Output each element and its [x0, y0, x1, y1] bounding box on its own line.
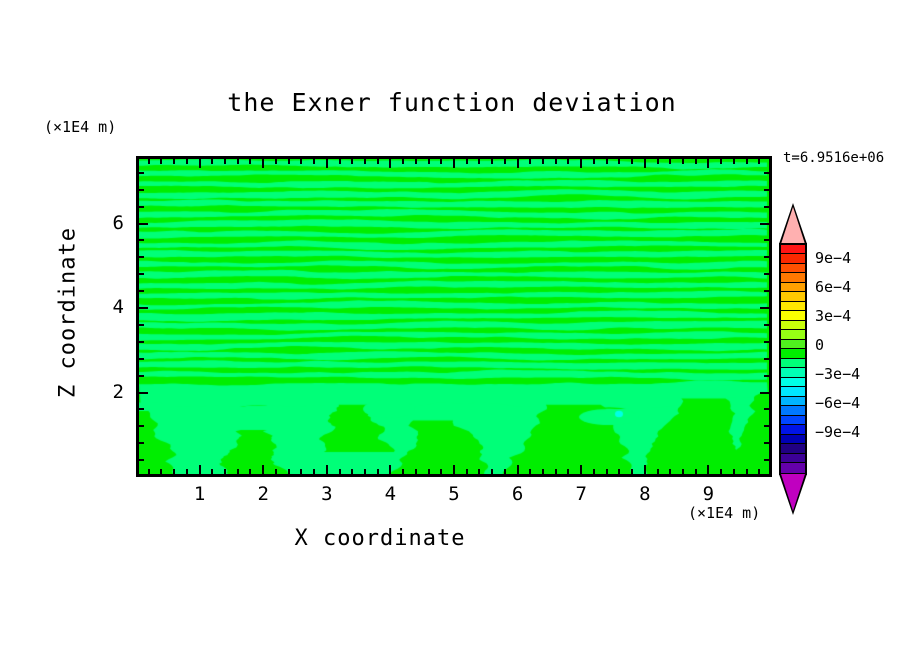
x-tick-minor: [275, 469, 277, 474]
colorbar-band: [781, 463, 805, 472]
y-tick-minor: [139, 341, 144, 343]
x-tick-minor: [440, 469, 442, 474]
y-axis-title: Z coordinate: [56, 203, 81, 423]
x-tick-major-top: [453, 159, 455, 168]
colorbar-band: [781, 406, 805, 415]
x-tick-major: [644, 465, 646, 474]
y-tick-minor: [139, 290, 144, 292]
y-tick-major: [139, 392, 148, 394]
x-tick-minor: [733, 469, 735, 474]
x-tick-major: [199, 465, 201, 474]
colorbar-band: [781, 302, 805, 311]
x-tick-label: 4: [370, 483, 410, 505]
colorbar-tick-label: 0: [815, 336, 824, 354]
x-tick-label: 1: [180, 483, 220, 505]
contour-plot-area: [136, 156, 772, 477]
y-tick-minor: [139, 189, 144, 191]
y-tick-minor-right: [764, 206, 769, 208]
x-tick-label: 3: [307, 483, 347, 505]
x-tick-minor-top: [491, 159, 493, 164]
y-tick-minor-right: [764, 256, 769, 258]
x-tick-minor-top: [415, 159, 417, 164]
colorbar-band: [781, 273, 805, 282]
x-tick-label: 8: [625, 483, 665, 505]
x-tick-major-top: [389, 159, 391, 168]
x-tick-minor: [618, 469, 620, 474]
y-tick-minor-right: [764, 341, 769, 343]
y-tick-major: [139, 223, 148, 225]
y-tick-minor-right: [764, 189, 769, 191]
figure-canvas: the Exner function deviation (×1E4 m) t=…: [0, 0, 904, 654]
x-tick-minor-top: [478, 159, 480, 164]
y-tick-label: 6: [84, 212, 124, 234]
scalar-field-image: [139, 159, 769, 474]
y-tick-minor: [139, 172, 144, 174]
x-tick-minor: [593, 469, 595, 474]
colorbar-tick-label: 6e−4: [815, 278, 851, 296]
x-tick-minor: [351, 469, 353, 474]
x-tick-minor: [504, 469, 506, 474]
x-tick-minor: [428, 469, 430, 474]
colorbar-tick-label: −3e−4: [815, 365, 860, 383]
x-tick-minor-top: [606, 159, 608, 164]
x-tick-minor-top: [313, 159, 315, 164]
x-tick-minor-top: [695, 159, 697, 164]
colorbar-band: [781, 359, 805, 368]
x-tick-minor: [669, 469, 671, 474]
x-tick-minor: [339, 469, 341, 474]
time-annotation: t=6.9516e+06: [783, 150, 884, 166]
x-tick-minor-top: [249, 159, 251, 164]
x-tick-minor-top: [593, 159, 595, 164]
x-tick-minor-top: [567, 159, 569, 164]
x-tick-minor-top: [351, 159, 353, 164]
colorbar-over-arrow-icon: [779, 203, 807, 244]
colorbar-band: [781, 387, 805, 396]
y-axis-unit-label: (×1E4 m): [44, 118, 116, 136]
x-tick-minor-top: [746, 159, 748, 164]
x-tick-minor-top: [466, 159, 468, 164]
y-tick-minor-right: [764, 425, 769, 427]
x-tick-major: [389, 465, 391, 474]
x-tick-minor: [288, 469, 290, 474]
x-tick-minor: [466, 469, 468, 474]
x-tick-major-top: [326, 159, 328, 168]
x-tick-minor-top: [529, 159, 531, 164]
x-axis-unit-label: (×1E4 m): [688, 504, 760, 522]
x-tick-minor: [695, 469, 697, 474]
y-tick-minor-right: [764, 239, 769, 241]
colorbar-band: [781, 368, 805, 377]
x-tick-minor-top: [657, 159, 659, 164]
x-tick-major-top: [262, 159, 264, 168]
y-tick-minor-right: [764, 324, 769, 326]
x-tick-minor-top: [160, 159, 162, 164]
x-tick-major: [262, 465, 264, 474]
y-tick-minor-right: [764, 358, 769, 360]
colorbar-band: [781, 454, 805, 463]
colorbar-band: [781, 311, 805, 320]
colorbar-tick-label: 9e−4: [815, 249, 851, 267]
colorbar-band: [781, 444, 805, 453]
y-tick-minor: [139, 459, 144, 461]
x-tick-minor-top: [669, 159, 671, 164]
colorbar-band: [781, 264, 805, 273]
colorbar: 9e−46e−43e−40−3e−4−6e−4−9e−4: [779, 203, 807, 515]
x-tick-minor: [529, 469, 531, 474]
x-tick-minor: [682, 469, 684, 474]
y-tick-minor: [139, 375, 144, 377]
y-tick-minor-right: [764, 459, 769, 461]
page-title: the Exner function deviation: [0, 88, 904, 117]
y-tick-minor: [139, 239, 144, 241]
x-tick-minor-top: [211, 159, 213, 164]
x-tick-major: [707, 465, 709, 474]
x-tick-label: 5: [434, 483, 474, 505]
x-tick-minor: [148, 469, 150, 474]
x-tick-minor: [224, 469, 226, 474]
x-tick-minor: [491, 469, 493, 474]
x-tick-minor-top: [275, 159, 277, 164]
x-tick-minor-top: [288, 159, 290, 164]
y-tick-minor: [139, 273, 144, 275]
x-tick-label: 9: [688, 483, 728, 505]
x-tick-minor: [402, 469, 404, 474]
y-tick-label: 4: [84, 296, 124, 318]
x-tick-minor: [377, 469, 379, 474]
x-tick-minor: [720, 469, 722, 474]
colorbar-band: [781, 283, 805, 292]
y-tick-minor: [139, 442, 144, 444]
x-tick-minor-top: [555, 159, 557, 164]
x-tick-major: [517, 465, 519, 474]
x-tick-minor-top: [186, 159, 188, 164]
y-tick-minor-right: [764, 408, 769, 410]
x-tick-major: [580, 465, 582, 474]
y-tick-minor: [139, 408, 144, 410]
y-tick-minor-right: [764, 273, 769, 275]
y-tick-minor: [139, 206, 144, 208]
x-tick-minor: [542, 469, 544, 474]
x-tick-minor: [657, 469, 659, 474]
y-tick-minor: [139, 358, 144, 360]
colorbar-band: [781, 292, 805, 301]
x-tick-minor-top: [364, 159, 366, 164]
colorbar-band: [781, 340, 805, 349]
x-tick-minor-top: [377, 159, 379, 164]
x-tick-minor: [606, 469, 608, 474]
x-tick-minor: [300, 469, 302, 474]
y-tick-minor-right: [764, 375, 769, 377]
colorbar-tick-label: −6e−4: [815, 394, 860, 412]
x-tick-minor: [160, 469, 162, 474]
y-tick-major-right: [760, 223, 769, 225]
y-tick-minor-right: [764, 442, 769, 444]
x-tick-label: 2: [243, 483, 283, 505]
x-tick-minor: [211, 469, 213, 474]
x-tick-minor-top: [339, 159, 341, 164]
y-tick-minor-right: [764, 172, 769, 174]
x-tick-minor-top: [224, 159, 226, 164]
y-tick-minor: [139, 324, 144, 326]
x-tick-major: [453, 465, 455, 474]
x-tick-minor-top: [733, 159, 735, 164]
x-tick-minor-top: [148, 159, 150, 164]
colorbar-band: [781, 397, 805, 406]
x-tick-minor: [746, 469, 748, 474]
x-tick-minor-top: [682, 159, 684, 164]
y-tick-major: [139, 307, 148, 309]
x-tick-minor: [567, 469, 569, 474]
x-tick-minor: [313, 469, 315, 474]
colorbar-tick-label: −9e−4: [815, 423, 860, 441]
x-tick-minor: [364, 469, 366, 474]
x-tick-minor-top: [173, 159, 175, 164]
x-tick-label: 7: [561, 483, 601, 505]
x-tick-label: 6: [498, 483, 538, 505]
colorbar-band: [781, 321, 805, 330]
colorbar-band: [781, 245, 805, 254]
x-tick-minor-top: [504, 159, 506, 164]
y-tick-major-right: [760, 307, 769, 309]
x-tick-minor: [555, 469, 557, 474]
x-tick-minor-top: [631, 159, 633, 164]
x-tick-minor-top: [542, 159, 544, 164]
x-tick-major-top: [644, 159, 646, 168]
colorbar-band: [781, 349, 805, 358]
x-tick-major: [326, 465, 328, 474]
colorbar-under-arrow-icon: [779, 474, 807, 515]
x-tick-minor-top: [300, 159, 302, 164]
y-tick-label: 2: [84, 381, 124, 403]
x-tick-minor-top: [402, 159, 404, 164]
x-tick-minor-top: [440, 159, 442, 164]
colorbar-band: [781, 435, 805, 444]
x-tick-minor: [249, 469, 251, 474]
y-tick-minor: [139, 256, 144, 258]
colorbar-bands: [779, 243, 807, 475]
x-tick-minor: [237, 469, 239, 474]
x-tick-major-top: [199, 159, 201, 168]
colorbar-band: [781, 378, 805, 387]
colorbar-band: [781, 425, 805, 434]
x-tick-minor: [173, 469, 175, 474]
x-tick-major-top: [517, 159, 519, 168]
x-tick-minor: [415, 469, 417, 474]
x-tick-minor-top: [237, 159, 239, 164]
x-tick-minor-top: [720, 159, 722, 164]
x-tick-major-top: [707, 159, 709, 168]
colorbar-band: [781, 330, 805, 339]
x-axis-title: X coordinate: [0, 526, 760, 551]
colorbar-band: [781, 254, 805, 263]
x-tick-major-top: [580, 159, 582, 168]
x-tick-minor-top: [428, 159, 430, 164]
y-tick-minor-right: [764, 290, 769, 292]
colorbar-tick-label: 3e−4: [815, 307, 851, 325]
y-tick-major-right: [760, 392, 769, 394]
x-tick-minor-top: [618, 159, 620, 164]
x-tick-minor-top: [758, 159, 760, 164]
colorbar-band: [781, 416, 805, 425]
y-tick-minor: [139, 425, 144, 427]
x-tick-minor: [478, 469, 480, 474]
x-tick-minor: [631, 469, 633, 474]
x-tick-minor: [758, 469, 760, 474]
x-tick-minor: [186, 469, 188, 474]
